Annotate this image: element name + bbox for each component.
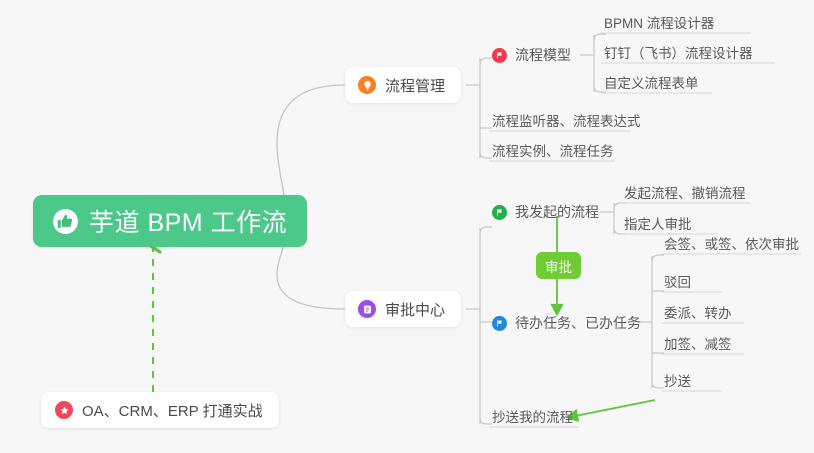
flag-icon xyxy=(492,205,507,220)
approval-badge-label: 审批 xyxy=(545,256,572,276)
leaf-node[interactable]: 钉钉（飞书）流程设计器 xyxy=(604,39,753,65)
leaf-node[interactable]: 抄送 xyxy=(664,367,691,393)
callout-label: OA、CRM、ERP 打通实战 xyxy=(82,400,263,421)
subnode-my-initiated-processes[interactable]: 我发起的流程 xyxy=(492,201,599,223)
lightbulb-icon xyxy=(358,76,376,94)
branch-label: 流程管理 xyxy=(385,75,445,96)
mindmap-canvas: 芋道 BPM 工作流 流程管理 审批中心 xyxy=(0,0,814,453)
leaf-node[interactable]: 会签、或签、依次审批 xyxy=(664,230,799,256)
leaf-node[interactable]: 发起流程、撤销流程 xyxy=(624,179,746,205)
subnode-todo-done-tasks[interactable]: 待办任务、已办任务 xyxy=(492,312,641,334)
star-icon xyxy=(55,401,73,419)
leaf-node[interactable]: 抄送我的流程 xyxy=(492,403,573,429)
leaf-node[interactable]: BPMN 流程设计器 xyxy=(604,9,714,35)
callout-node-integration[interactable]: OA、CRM、ERP 打通实战 xyxy=(41,392,279,428)
flag-icon xyxy=(492,316,507,331)
approval-badge: 审批 xyxy=(536,252,581,279)
leaf-node[interactable]: 驳回 xyxy=(664,268,691,294)
subnode-label: 流程模型 xyxy=(515,45,571,65)
branch-label: 审批中心 xyxy=(385,299,445,320)
branch-node-process-management[interactable]: 流程管理 xyxy=(345,67,461,103)
leaf-node[interactable]: 委派、转办 xyxy=(664,299,732,325)
leaf-node[interactable]: 自定义流程表单 xyxy=(604,69,699,95)
clipboard-icon xyxy=(358,300,376,318)
leaf-node[interactable]: 加签、减签 xyxy=(664,330,732,356)
subnode-process-model[interactable]: 流程模型 xyxy=(492,44,571,66)
branch-node-approval-center[interactable]: 审批中心 xyxy=(345,291,461,327)
leaf-node[interactable]: 流程实例、流程任务 xyxy=(492,137,614,163)
leaf-node[interactable]: 流程监听器、流程表达式 xyxy=(492,107,641,133)
root-node[interactable]: 芋道 BPM 工作流 xyxy=(33,195,307,247)
thumbs-up-icon xyxy=(53,209,78,234)
subnode-label: 我发起的流程 xyxy=(515,202,599,222)
flag-icon xyxy=(492,48,507,63)
root-label: 芋道 BPM 工作流 xyxy=(89,203,287,239)
subnode-label: 待办任务、已办任务 xyxy=(515,313,641,333)
